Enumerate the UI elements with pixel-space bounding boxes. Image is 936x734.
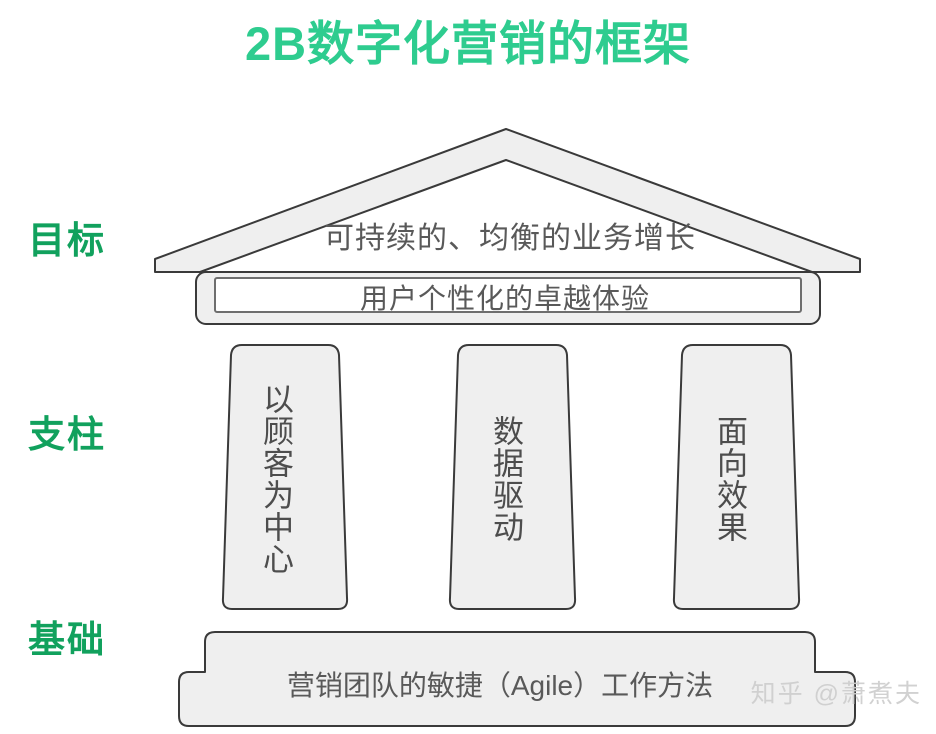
diagram-canvas: 2B数字化营销的框架 目标 支柱 基础 可持续的、均衡的业务增长 用户个性化的卓… xyxy=(0,0,936,734)
roof-label: 可持续的、均衡的业务增长 xyxy=(160,213,860,257)
architrave-label: 用户个性化的卓越体验 xyxy=(205,277,805,317)
pillar-label-2: 数据驱动 xyxy=(482,399,522,559)
watermark: 知乎 @萧煮夫 xyxy=(751,674,922,710)
foundation-label: 营销团队的敏捷（Agile）工作方法 xyxy=(190,664,810,704)
house-diagram-shapes xyxy=(0,0,936,734)
pillar-label-1: 以顾客为中心 xyxy=(252,364,292,594)
pillar-label-3: 面向效果 xyxy=(706,399,746,559)
